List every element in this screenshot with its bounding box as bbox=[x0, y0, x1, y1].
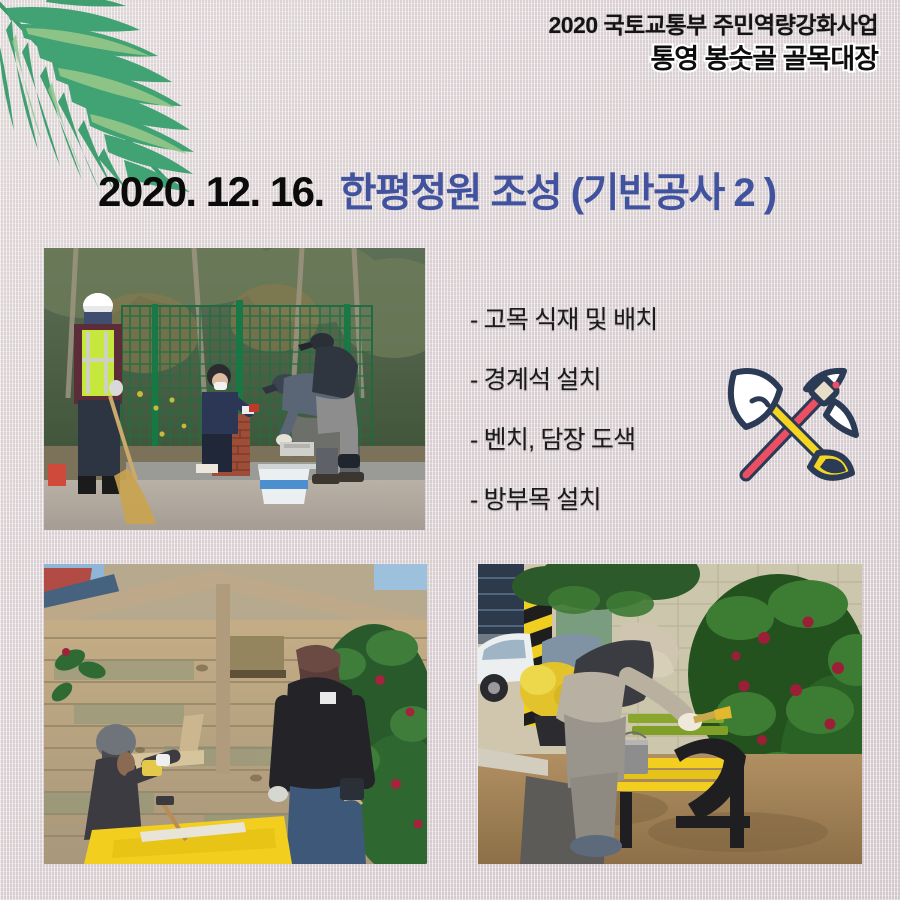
list-item: - 고목 식재 및 배치 bbox=[470, 300, 740, 336]
task-list: - 고목 식재 및 배치 - 경계석 설치 - 벤치, 담장 도색 - 방부목 … bbox=[470, 300, 740, 540]
photo-brick-column-work bbox=[44, 248, 425, 530]
header-block: 2020 국토교통부 주민역량강화사업 통영 봉숫골 골목대장 bbox=[548, 14, 878, 73]
title-subject: 한평정원 조성 (기반공사 2 ) bbox=[340, 160, 776, 218]
photo-wooden-wall-work bbox=[44, 564, 427, 864]
poster-canvas: 2020 국토교통부 주민역량강화사업 통영 봉숫골 골목대장 2020. 12… bbox=[0, 0, 900, 900]
shovel-and-pickaxe-icon bbox=[714, 357, 864, 493]
page-title: 2020. 12. 16. 한평정원 조성 (기반공사 2 ) bbox=[98, 160, 776, 218]
list-item: - 경계석 설치 bbox=[470, 360, 740, 396]
list-item: - 벤치, 담장 도색 bbox=[470, 420, 740, 456]
photo-bench-painting bbox=[478, 564, 862, 864]
header-project-title: 통영 봉숫골 골목대장 bbox=[548, 46, 878, 73]
header-program-name: 2020 국토교통부 주민역량강화사업 bbox=[548, 14, 878, 37]
title-date: 2020. 12. 16. bbox=[98, 168, 324, 216]
list-item: - 방부목 설치 bbox=[470, 480, 740, 516]
